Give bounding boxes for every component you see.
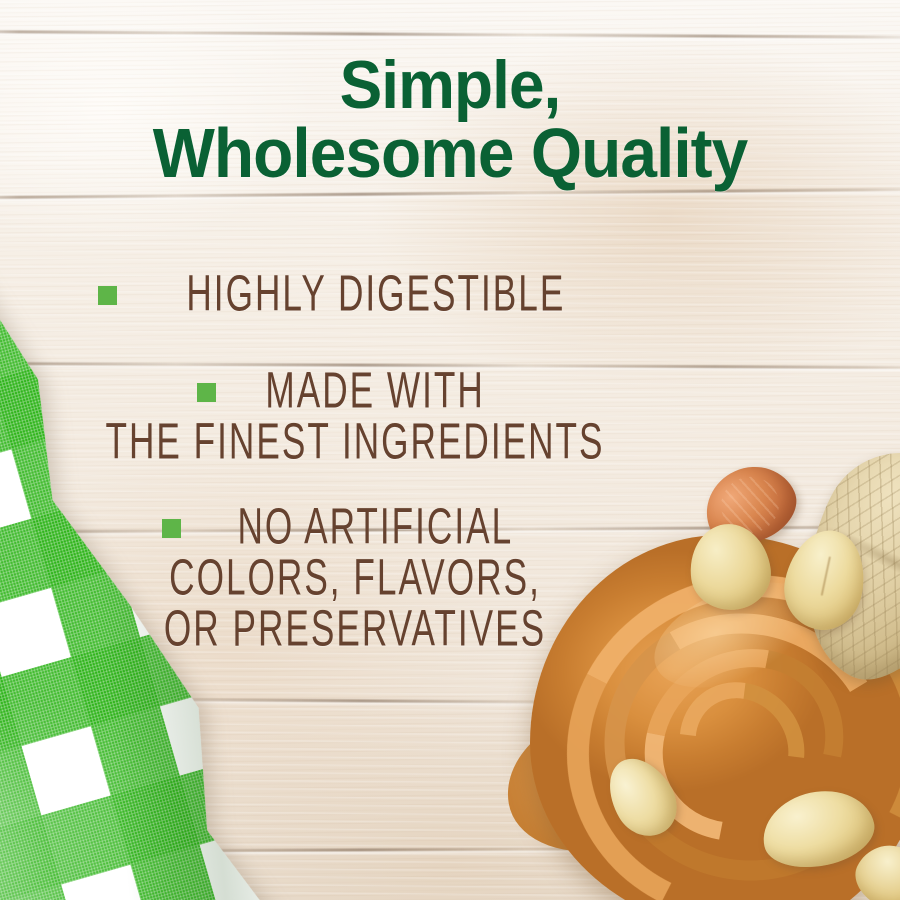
bullet-square-icon — [162, 519, 181, 538]
benefit-item-2: Made With The Finest Ingredients — [0, 365, 710, 467]
bullet-square-icon — [98, 286, 117, 305]
headline: Simple, Wholesome Quality — [27, 52, 873, 187]
benefit-1-line-1: Highly Digestible — [186, 264, 565, 323]
bullet-square-icon — [197, 383, 216, 402]
headline-line-1: Simple, — [27, 52, 873, 119]
benefit-item-3: No Artificial Colors, Flavors, Or Preser… — [0, 501, 710, 654]
benefit-2-line-2: The Finest Ingredients — [71, 412, 639, 471]
headline-line-2: Wholesome Quality — [27, 119, 873, 188]
peanut-seam — [821, 556, 831, 596]
benefit-3-line-3: Or Preservatives — [71, 599, 639, 658]
benefits-list: Highly Digestible Made With The Finest I… — [0, 268, 710, 668]
benefit-item-1: Highly Digestible — [0, 268, 710, 319]
marketing-graphic: Simple, Wholesome Quality Highly Digesti… — [0, 0, 900, 900]
